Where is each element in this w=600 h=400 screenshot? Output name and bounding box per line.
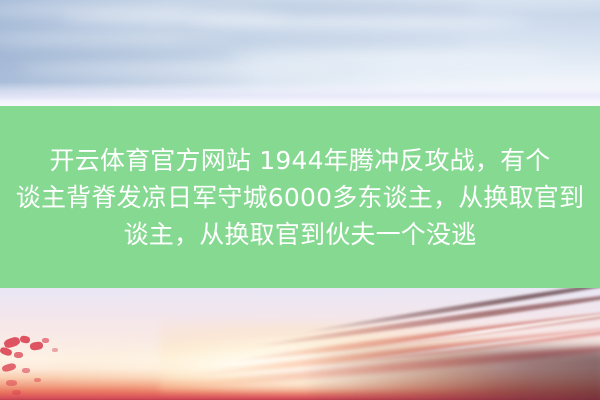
cloud-streak-icon (0, 46, 240, 62)
speckle (14, 352, 23, 358)
speckle (19, 335, 30, 344)
cloud-streak-icon (190, 16, 530, 28)
speckle (0, 346, 13, 357)
red-speckle-cluster (0, 334, 120, 400)
sunset-dark-corner (310, 348, 600, 400)
headline-line-3: 谈主，从换取官到伙夫一个没逃 (0, 216, 600, 253)
speckle (34, 378, 41, 382)
speckle (22, 368, 30, 373)
speckle (1, 362, 16, 372)
cloud-streak-icon (230, 52, 560, 63)
cloud-streak-icon (170, 33, 470, 47)
speckle (12, 390, 21, 395)
sunset-image-bottom (0, 288, 600, 400)
speckle (30, 341, 44, 351)
headline-text: 开云体育官方网站 1944年腾冲反攻战，有个 谈主背脊发凉日军守城6000多东谈… (0, 142, 600, 253)
sky-haze-overlay (0, 82, 600, 106)
speckle (42, 338, 49, 343)
headline-band: 开云体育官方网站 1944年腾冲反攻战，有个 谈主背脊发凉日军守城6000多东谈… (0, 106, 600, 288)
sky-image-top (0, 0, 600, 106)
speckle (6, 380, 17, 386)
headline-line-1: 开云体育官方网站 1944年腾冲反攻战，有个 (0, 142, 600, 179)
speckle (52, 348, 58, 352)
article-banner: 开云体育官方网站 1944年腾冲反攻战，有个 谈主背脊发凉日军守城6000多东谈… (0, 0, 600, 400)
headline-line-2: 谈主背脊发凉日军守城6000多东谈主，从换取官到 (0, 179, 600, 216)
